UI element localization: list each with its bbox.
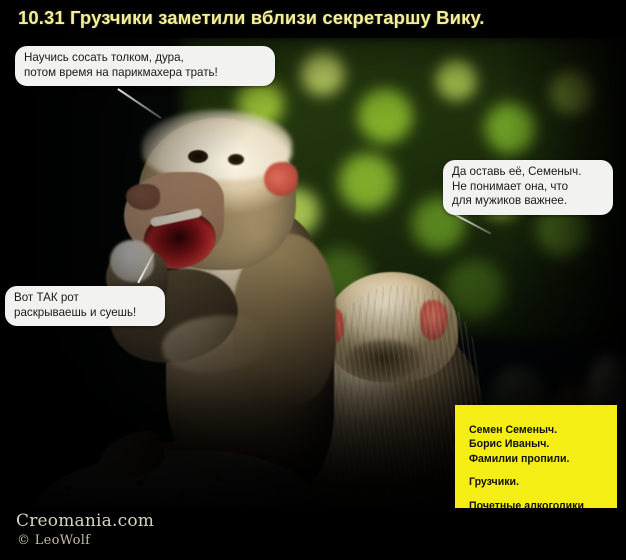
watermark-author: © LeoWolf [17,533,90,548]
note-spacer-1 [469,466,605,475]
watermark-site: Creomania.com [16,511,154,531]
note-line-3: Фамилии пропили. [469,452,605,466]
note-line-2: Борис Иваныч. [469,437,605,451]
title-bar: 10.31 Грузчики заметили вблизи секретарш… [0,0,626,38]
meme-image: 10.31 Грузчики заметили вблизи секретарш… [0,0,626,560]
speech-bubble-1: Научись сосать толком, дура, потом время… [15,46,275,86]
note-spacer-2 [469,490,605,499]
monkey-front-ear [264,162,298,196]
page-title: 10.31 Грузчики заметили вблизи секретарш… [18,7,484,29]
note-line-1: Семен Семеныч. [469,423,605,437]
monkey-front-nose [126,184,160,210]
speech-bubble-2: Да оставь её, Семеныч. Не понимает она, … [443,160,613,215]
note-line-4: Грузчики. [469,475,605,489]
speech-bubble-3: Вот ТАК рот раскрываешь и суешь! [5,286,165,326]
monkey-front-eye-near [188,150,208,163]
monkey-front-eye-far [228,154,244,165]
